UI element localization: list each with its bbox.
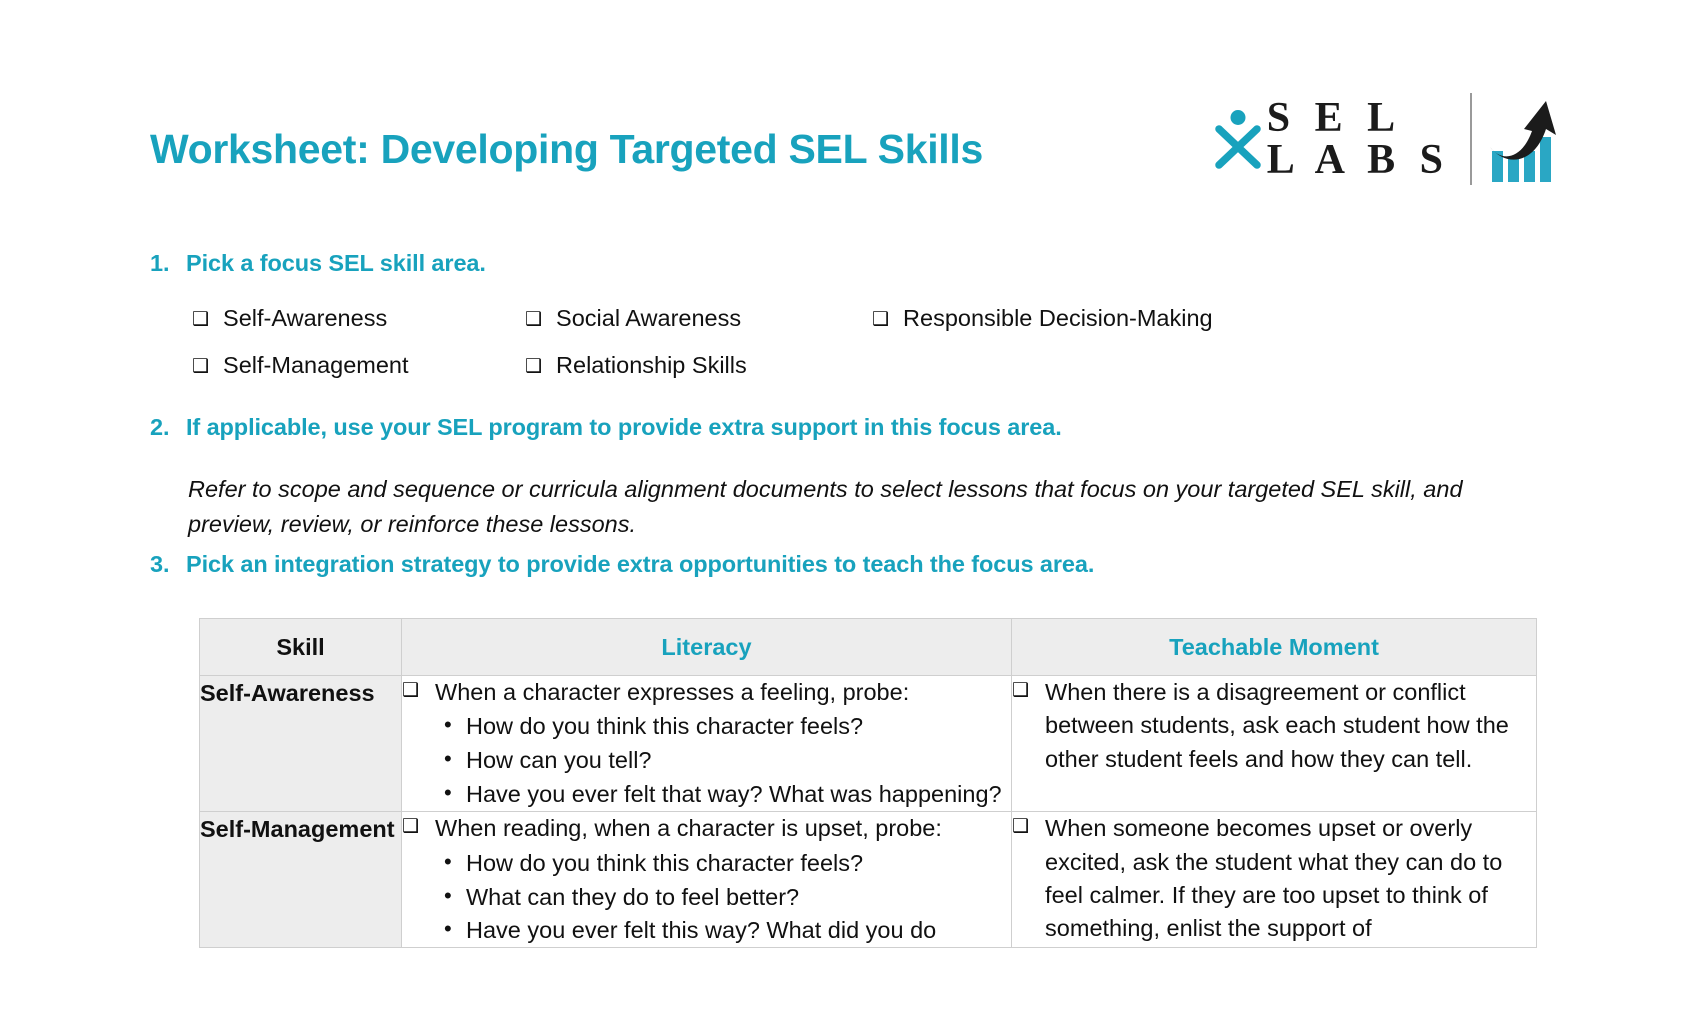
checkbox-label: Social Awareness — [556, 305, 741, 332]
logo-word-labs: L A B S — [1267, 139, 1450, 181]
list-item: What can they do to feel better? — [444, 882, 1011, 914]
list-item: How can you tell? — [444, 745, 1011, 777]
logo-wordmark-group: S E L L A B S — [1215, 97, 1450, 181]
step-1-number: 1. — [150, 250, 186, 277]
row-skill-self-management: Self-Management — [200, 812, 402, 948]
step-3-label: Pick an integration strategy to provide … — [186, 551, 1094, 578]
logo-wordmark: S E L L A B S — [1267, 97, 1450, 181]
logo-divider — [1470, 93, 1472, 185]
checkbox-social-awareness[interactable]: ❑ Social Awareness — [525, 305, 741, 332]
step-3-number: 3. — [150, 551, 186, 578]
integration-strategy-table: Skill Literacy Teachable Moment Self-Awa… — [199, 618, 1537, 948]
cell-lead: ❑ When there is a disagreement or confli… — [1012, 676, 1536, 776]
step-2-label: If applicable, use your SEL program to p… — [186, 414, 1062, 441]
cell-lead-text: When someone becomes upset or overly exc… — [1045, 812, 1536, 945]
cell-lead-text: When there is a disagreement or conflict… — [1045, 676, 1536, 776]
step-2: 2. If applicable, use your SEL program t… — [150, 414, 1062, 441]
logo-word-sel: S E L — [1267, 97, 1450, 139]
checkbox-relationship-skills[interactable]: ❑ Relationship Skills — [525, 352, 747, 379]
column-header-literacy: Literacy — [402, 619, 1012, 676]
checkbox-label: Self-Awareness — [223, 305, 387, 332]
table-row: Self-Awareness ❑ When a character expres… — [200, 676, 1537, 812]
list-item: How do you think this character feels? — [444, 711, 1011, 743]
cell-lead-text: When reading, when a character is upset,… — [435, 812, 1011, 845]
table-header-row: Skill Literacy Teachable Moment — [200, 619, 1537, 676]
cell-teachable-self-awareness: ❑ When there is a disagreement or confli… — [1012, 676, 1537, 812]
row-skill-self-awareness: Self-Awareness — [200, 676, 402, 812]
checkbox-icon[interactable]: ❑ — [1012, 677, 1029, 704]
checkbox-self-management[interactable]: ❑ Self-Management — [192, 352, 409, 379]
cell-literacy-self-awareness: ❑ When a character expresses a feeling, … — [402, 676, 1012, 812]
column-header-skill: Skill — [200, 619, 402, 676]
checkbox-icon[interactable]: ❑ — [1012, 813, 1029, 840]
checkbox-icon[interactable]: ❑ — [192, 355, 209, 377]
cell-lead-text: When a character expresses a feeling, pr… — [435, 676, 1011, 709]
cell-lead: ❑ When a character expresses a feeling, … — [402, 676, 1011, 709]
step-1-label: Pick a focus SEL skill area. — [186, 250, 486, 277]
cell-lead: ❑ When reading, when a character is upse… — [402, 812, 1011, 845]
checkbox-icon[interactable]: ❑ — [402, 813, 419, 840]
step-3: 3. Pick an integration strategy to provi… — [150, 551, 1094, 578]
checkbox-self-awareness[interactable]: ❑ Self-Awareness — [192, 305, 387, 332]
checkbox-icon[interactable]: ❑ — [525, 308, 542, 330]
checkbox-icon[interactable]: ❑ — [872, 308, 889, 330]
page-title: Worksheet: Developing Targeted SEL Skill… — [150, 127, 983, 172]
page-header: Worksheet: Developing Targeted SEL Skill… — [150, 85, 1560, 205]
cell-literacy-self-management: ❑ When reading, when a character is upse… — [402, 812, 1012, 948]
sel-labs-logo: S E L L A B S — [1215, 93, 1560, 185]
checkbox-label: Self-Management — [223, 352, 409, 379]
checkbox-responsible-decision-making[interactable]: ❑ Responsible Decision-Making — [872, 305, 1213, 332]
cell-teachable-self-management: ❑ When someone becomes upset or overly e… — [1012, 812, 1537, 948]
list-item: Have you ever felt this way? What did yo… — [444, 915, 1011, 947]
table-row: Self-Management ❑ When reading, when a c… — [200, 812, 1537, 948]
list-item: How do you think this character feels? — [444, 848, 1011, 880]
step-2-number: 2. — [150, 414, 186, 441]
x-person-icon — [1215, 109, 1261, 169]
checkbox-label: Relationship Skills — [556, 352, 747, 379]
checkbox-label: Responsible Decision-Making — [903, 305, 1213, 332]
step-1: 1. Pick a focus SEL skill area. — [150, 250, 486, 277]
checkbox-icon[interactable]: ❑ — [192, 308, 209, 330]
worksheet-page: Worksheet: Developing Targeted SEL Skill… — [0, 0, 1700, 1009]
cell-sublist: How do you think this character feels? W… — [444, 848, 1011, 948]
cell-lead: ❑ When someone becomes upset or overly e… — [1012, 812, 1536, 945]
checkbox-icon[interactable]: ❑ — [402, 677, 419, 704]
checkbox-icon[interactable]: ❑ — [525, 355, 542, 377]
scope-sequence-note: Refer to scope and sequence or curricula… — [188, 472, 1553, 542]
cell-sublist: How do you think this character feels? H… — [444, 711, 1011, 811]
list-item: Have you ever felt that way? What was ha… — [444, 779, 1011, 811]
column-header-teachable-moment: Teachable Moment — [1012, 619, 1537, 676]
growth-chart-arrow-icon — [1488, 93, 1560, 185]
